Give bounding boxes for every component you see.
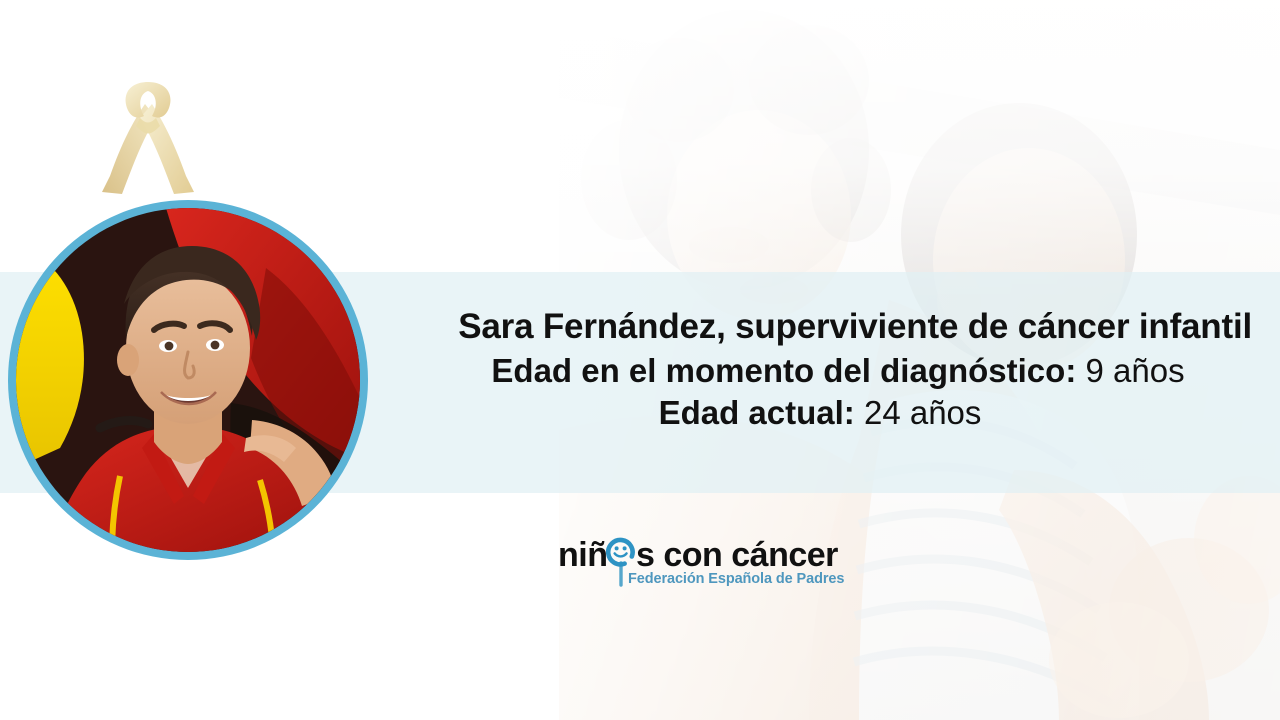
caption-line-current-age: Edad actual: 24 años — [370, 392, 1260, 434]
slide-stage: Sara Fernández, superviviente de cáncer … — [0, 0, 1280, 720]
current-age-value: 24 años — [864, 394, 981, 431]
logo-word-before: niñ — [558, 536, 607, 575]
caption-block: Sara Fernández, superviviente de cáncer … — [370, 305, 1260, 434]
logo-subtitle: Federación Española de Padres — [628, 571, 844, 587]
current-age-label: Edad actual: — [659, 394, 855, 431]
caption-line-diagnosis-age: Edad en el momento del diagnóstico: 9 añ… — [370, 350, 1260, 392]
diagnosis-age-label: Edad en el momento del diagnóstico: — [491, 352, 1076, 389]
caption-line-name: Sara Fernández, superviviente de cáncer … — [370, 305, 1260, 350]
logo-word-after: s con cáncer — [636, 536, 838, 575]
portrait-avatar — [8, 200, 368, 560]
organization-logo: niñ s con cáncer Federación Española de … — [558, 536, 848, 594]
awareness-ribbon-icon — [100, 78, 196, 200]
portrait-image — [16, 208, 360, 552]
caption-name-text: Sara Fernández, superviviente de cáncer … — [458, 307, 1252, 346]
diagnosis-age-value: 9 años — [1085, 352, 1184, 389]
